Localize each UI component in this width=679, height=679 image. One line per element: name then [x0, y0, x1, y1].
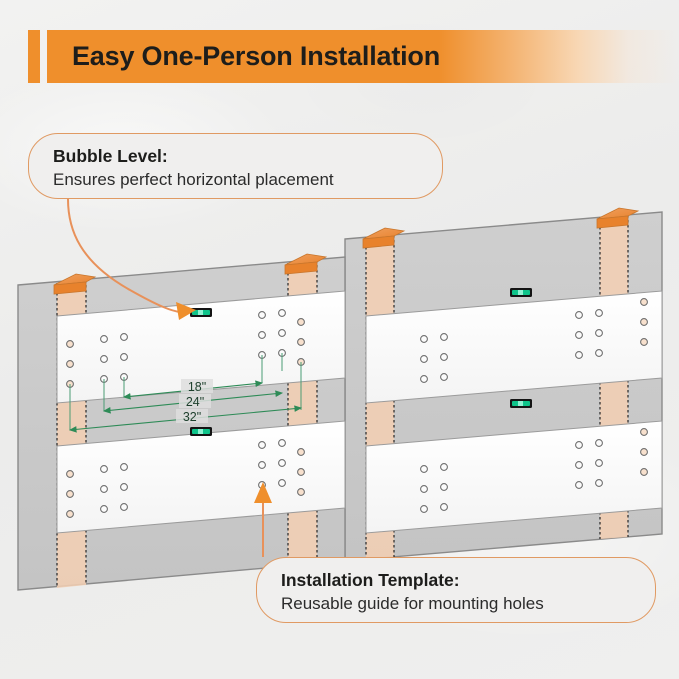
callout-installation-template-text: Reusable guide for mounting holes	[281, 593, 633, 615]
callout-bubble-level-text: Ensures perfect horizontal placement	[53, 169, 420, 191]
callout-installation-template-title: Installation Template:	[281, 570, 633, 592]
page-root: 18" 24" 32" Easy One-Person Installation…	[0, 0, 679, 679]
callout-installation-template-body: Installation Template: Reusable guide fo…	[257, 558, 655, 628]
dimension-label-24: 24"	[186, 395, 204, 409]
bubble-level-right-lower	[510, 399, 532, 408]
callout-bubble-level: Bubble Level: Ensures perfect horizontal…	[28, 133, 443, 199]
header-accent-bar	[28, 30, 40, 83]
wall-panel-right	[345, 208, 662, 561]
callout-bubble-level-body: Bubble Level: Ensures perfect horizontal…	[29, 134, 442, 204]
callout-bubble-level-title: Bubble Level:	[53, 146, 420, 168]
header: Easy One-Person Installation	[0, 30, 679, 83]
bubble-level-left-lower	[190, 427, 212, 436]
page-title: Easy One-Person Installation	[72, 30, 440, 83]
bubble-level-right-upper	[510, 288, 532, 297]
dimension-label-18: 18"	[188, 380, 206, 394]
dimension-label-32: 32"	[183, 410, 201, 424]
callout-installation-template: Installation Template: Reusable guide fo…	[256, 557, 656, 623]
